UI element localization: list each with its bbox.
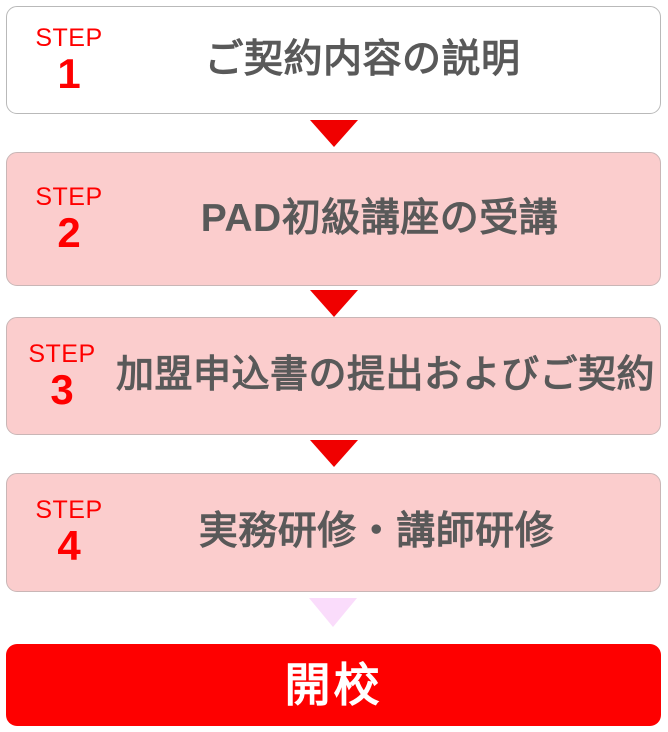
step-card-2: STEP 2 PAD初級講座の受講	[6, 152, 661, 286]
step-card-4: STEP 4 実務研修・講師研修	[6, 473, 661, 592]
step-label-2: STEP	[13, 185, 125, 210]
step-number-4: 4	[13, 525, 125, 567]
step-number-1: 1	[13, 53, 125, 95]
step-badge-1: STEP 1	[7, 26, 125, 95]
step-label-1: STEP	[13, 26, 125, 51]
step-badge-2: STEP 2	[7, 185, 125, 254]
step-label-3: STEP	[13, 342, 111, 367]
step-label-4: STEP	[13, 498, 125, 523]
step-badge-4: STEP 4	[7, 498, 125, 567]
step-title-2: PAD初級講座の受講	[125, 198, 660, 241]
final-title: 開校	[285, 662, 383, 708]
process-flow-diagram: STEP 1 ご契約内容の説明 STEP 2 PAD初級講座の受講 STEP 3…	[0, 0, 668, 732]
step-card-3: STEP 3 加盟申込書の提出およびご契約	[6, 317, 661, 435]
step-title-4: 実務研修・講師研修	[125, 511, 660, 554]
down-arrow-icon	[310, 290, 358, 317]
final-card-opening: 開校	[6, 644, 661, 726]
step-number-3: 3	[13, 369, 111, 411]
step-card-1: STEP 1 ご契約内容の説明	[6, 6, 661, 114]
down-arrow-icon	[310, 440, 358, 467]
down-arrow-icon	[310, 120, 358, 147]
down-arrow-pale-icon	[309, 598, 357, 627]
step-badge-3: STEP 3	[7, 342, 111, 411]
step-number-2: 2	[13, 212, 125, 254]
step-title-1: ご契約内容の説明	[125, 39, 660, 82]
step-title-3: 加盟申込書の提出およびご契約	[111, 355, 660, 397]
